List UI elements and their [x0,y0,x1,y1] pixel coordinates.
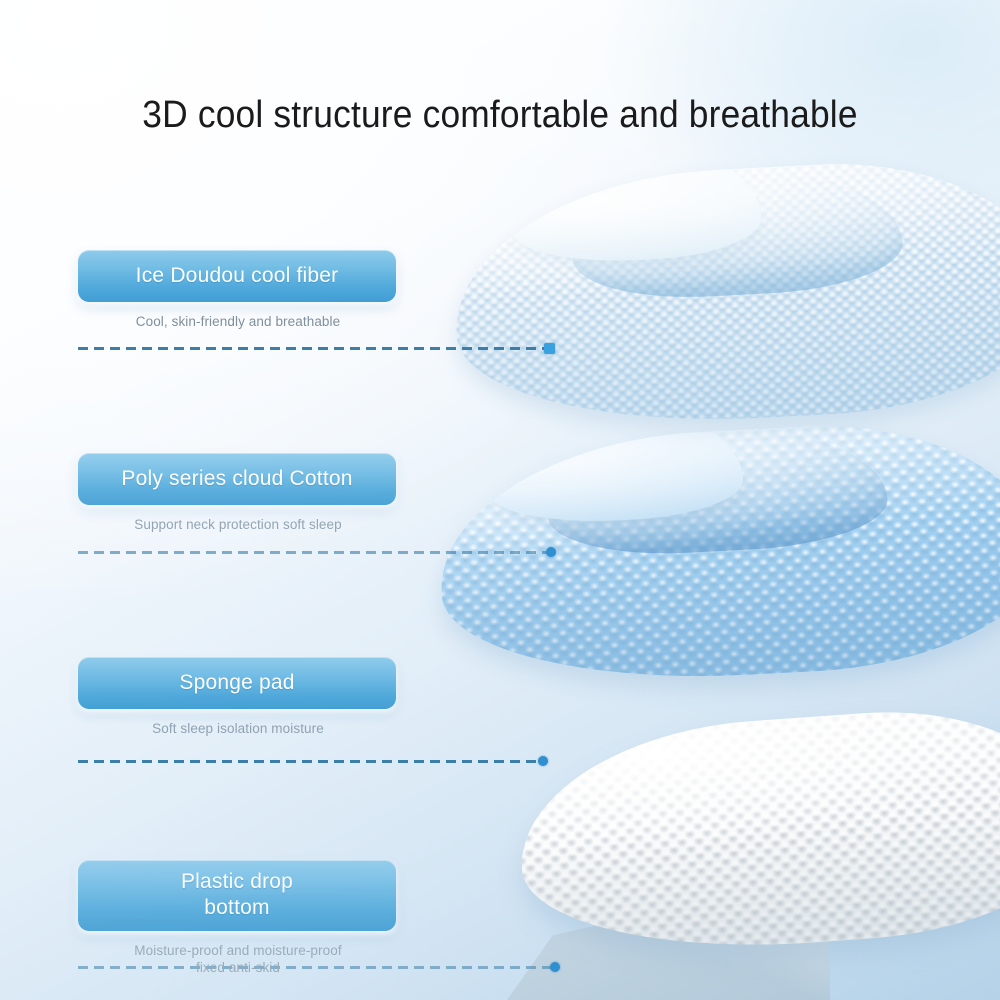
layer-shading [513,699,1000,963]
feature-label-text: Plastic drop [88,869,386,895]
leader-line-sponge-pad [78,760,540,763]
infographic-canvas: 3D cool structure comfortable and breath… [0,0,1000,1000]
feature-subtitle: Soft sleep isolation moisture [78,720,398,737]
feature-label-pill[interactable]: Sponge pad [78,657,396,709]
feature-subtitle-line: Moisture-proof and moisture-proof [78,942,398,959]
leader-line-ice-fiber [78,347,550,350]
page-title: 3D cool structure comfortable and breath… [35,93,965,137]
feature-callout-cloud-cotton[interactable]: Poly series cloud Cotton Support neck pr… [78,453,398,533]
feature-label-pill[interactable]: Plastic drop bottom [78,860,396,931]
leader-marker-sponge-pad [538,756,548,766]
leader-line-cloud-cotton [78,551,548,554]
feature-subtitle-line: Soft sleep isolation moisture [78,720,398,737]
feature-subtitle: Moisture-proof and moisture-proof fixed … [78,942,398,976]
feature-label-text: Ice Doudou cool fiber [88,262,386,289]
feature-label-pill[interactable]: Poly series cloud Cotton [78,453,396,505]
feature-label-text: Sponge pad [88,669,386,696]
feature-label-pill[interactable]: Ice Doudou cool fiber [78,250,396,302]
feature-callout-sponge-pad[interactable]: Sponge pad Soft sleep isolation moisture [78,657,398,737]
layer-shading [449,152,1000,433]
leader-marker-cloud-cotton [546,547,556,557]
feature-subtitle: Support neck protection soft sleep [78,516,398,533]
leader-marker-ice-fiber [544,343,555,354]
feature-callout-ice-fiber[interactable]: Ice Doudou cool fiber Cool, skin-friendl… [78,250,398,330]
feature-subtitle-line: Support neck protection soft sleep [78,516,398,533]
feature-subtitle: Cool, skin-friendly and breathable [78,313,398,330]
leader-marker-plastic-bottom [550,962,560,972]
product-layer-sponge-pad [513,699,1000,963]
feature-subtitle-line2: fixed anti-skid [78,959,398,976]
feature-subtitle-line: Cool, skin-friendly and breathable [78,313,398,330]
feature-label-text-line2: bottom [88,895,386,921]
product-layer-ice-fiber [449,152,1000,433]
feature-label-text: Poly series cloud Cotton [88,465,386,492]
feature-callout-plastic-bottom[interactable]: Plastic drop bottom Moisture-proof and m… [78,860,398,976]
